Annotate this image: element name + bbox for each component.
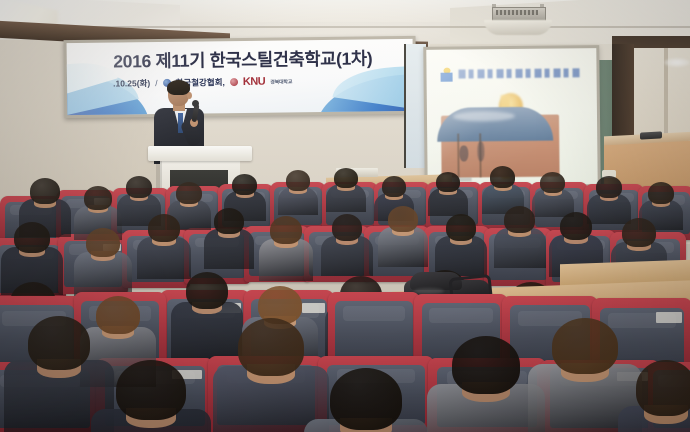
audience-head [552, 318, 618, 374]
audience-hair [232, 174, 257, 195]
slide-figure-1 [459, 145, 468, 161]
microphone-head [192, 100, 199, 107]
audience-head [452, 336, 520, 394]
audience-hair [330, 368, 402, 430]
audience-head [388, 206, 418, 232]
audience-head [14, 222, 50, 253]
audience-hair [270, 216, 302, 244]
banner-title: 2016 제11기 한국스틸건축학교(1차) [107, 45, 379, 73]
audience-hair [540, 172, 565, 193]
banner-cohost-mark: KNU [243, 76, 265, 88]
audience-head [116, 360, 186, 420]
audience-hair [14, 222, 50, 253]
audience-hair [382, 176, 406, 197]
audience-head [270, 216, 302, 244]
audience-hair [28, 316, 90, 370]
knu-logo-icon [230, 78, 238, 86]
audience-head [436, 172, 460, 192]
audience-head [176, 182, 202, 204]
audience-head [382, 176, 406, 197]
lecture-hall-photo: 2016 제11기 한국스틸건축학교(1차) .10.25(화) / 한국철강협… [0, 0, 690, 432]
audience-hair [334, 168, 358, 188]
audience-head [540, 172, 565, 193]
slide-figure-2 [477, 141, 484, 161]
seat-number-tag [302, 303, 325, 313]
audience-hair [446, 214, 476, 241]
audience-hair [596, 176, 622, 198]
audience-head [560, 212, 592, 240]
audience-hair [86, 228, 120, 257]
audience-head [330, 368, 402, 430]
seat-number-tag [656, 312, 682, 323]
audience-head [504, 206, 535, 233]
audience-head [332, 214, 362, 241]
presenter-ear [187, 92, 192, 99]
slide-title-text [459, 68, 581, 78]
audience-hair [176, 182, 202, 204]
audience-head [238, 318, 304, 376]
audience-hair [504, 206, 535, 233]
audience-head [28, 316, 90, 370]
audience-head [84, 186, 112, 210]
ceiling-spotlight-right [664, 58, 690, 67]
banner-date: .10.25(화) [113, 77, 150, 89]
audience-head [648, 182, 674, 204]
audience-head [622, 218, 656, 247]
projector-grille [496, 10, 538, 15]
counter-device [640, 131, 662, 139]
audience-hair [238, 318, 304, 376]
audience-head [334, 168, 358, 188]
audience-head [126, 176, 152, 198]
audience-hair [116, 360, 186, 420]
banner-cohost-name: 경북대학교 [270, 78, 292, 85]
audience-head [286, 170, 310, 191]
audience-head [214, 208, 244, 234]
audience-head [96, 296, 140, 334]
audience-hair [148, 214, 180, 242]
audience-head [30, 178, 60, 204]
audience-hair [96, 296, 140, 334]
audience-hair [552, 318, 618, 374]
audience-hair [84, 186, 112, 210]
audience-hair [622, 218, 656, 247]
audience-head [490, 166, 515, 188]
audience-hair [214, 208, 244, 234]
slide-logo-icon [440, 68, 452, 82]
audience-hair [30, 178, 60, 204]
audience-hair [126, 176, 152, 198]
lectern-top [148, 146, 252, 161]
audience-head [232, 174, 257, 195]
audience-head [596, 176, 622, 198]
audience-hair [560, 212, 592, 240]
banner-face: 2016 제11기 한국스틸건축학교(1차) .10.25(화) / 한국철강협… [67, 39, 414, 115]
audience-hair [388, 206, 418, 232]
audience-head [446, 214, 476, 241]
audience-hair [436, 172, 460, 192]
projector-icon [478, 2, 562, 36]
audience-head [186, 272, 228, 309]
audience-head [636, 360, 690, 416]
projector-lens [484, 20, 552, 35]
audience-hair [648, 182, 674, 204]
audience-hair [286, 170, 310, 191]
audience-hair [490, 166, 515, 188]
audience-head [148, 214, 180, 242]
audience-hair [452, 336, 520, 394]
event-banner: 2016 제11기 한국스틸건축학교(1차) .10.25(화) / 한국철강협… [64, 36, 417, 118]
audience-hair [332, 214, 362, 241]
audience-hair [186, 272, 228, 309]
audience-hair [636, 360, 690, 416]
audience-head [86, 228, 120, 257]
